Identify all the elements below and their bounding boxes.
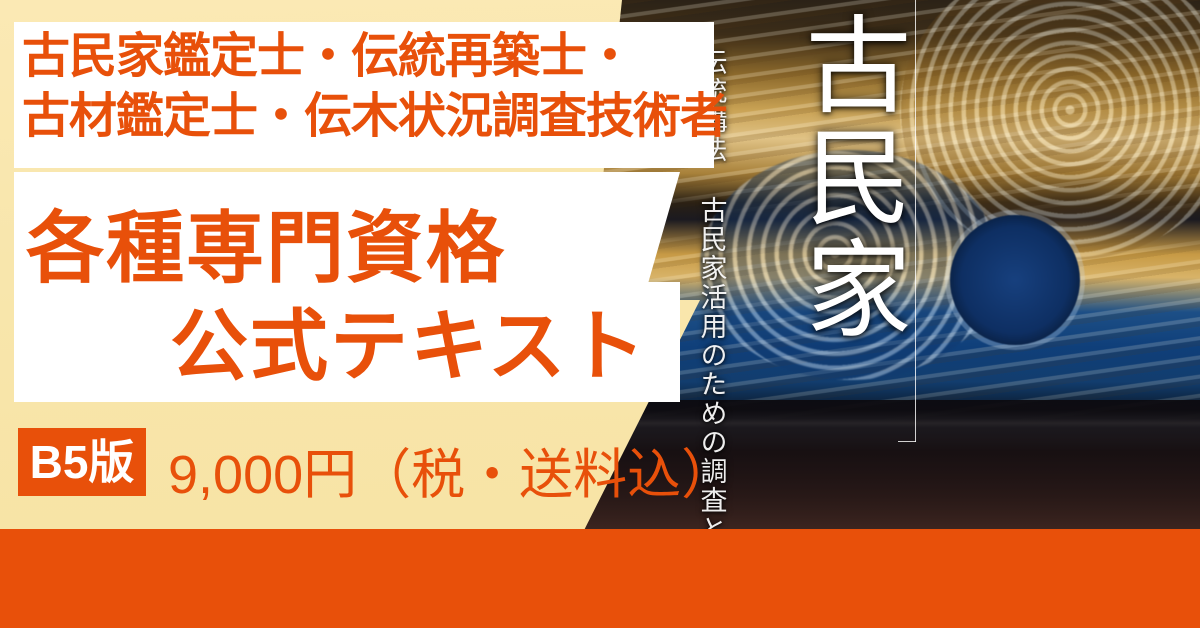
headline-line-2: 古材鑑定士・伝木状況調査技術者 (22, 90, 727, 144)
format-badge: B5版 (18, 428, 146, 496)
cover-frame-line-vertical (915, 0, 916, 442)
cta-button[interactable]: 詳細・ご購入はこちら (0, 529, 1200, 628)
title-line-2: 公式テキスト (170, 284, 648, 396)
promo-banner: 伝統構法 古民家活用のための調査と再生の 古民家 古民家鑑定士・伝統再築士・ 古… (0, 0, 1200, 628)
headline-line-1: 古民家鑑定士・伝統再築士・ (22, 30, 633, 84)
cover-frame-line-horizontal (898, 441, 916, 442)
title-line-1: 各種専門資格 (26, 186, 506, 298)
family-crest-medallion (950, 215, 1080, 345)
book-cover-title: 古民家 (790, 10, 904, 346)
price-label: 9,000円（税・送料込） (168, 430, 735, 509)
